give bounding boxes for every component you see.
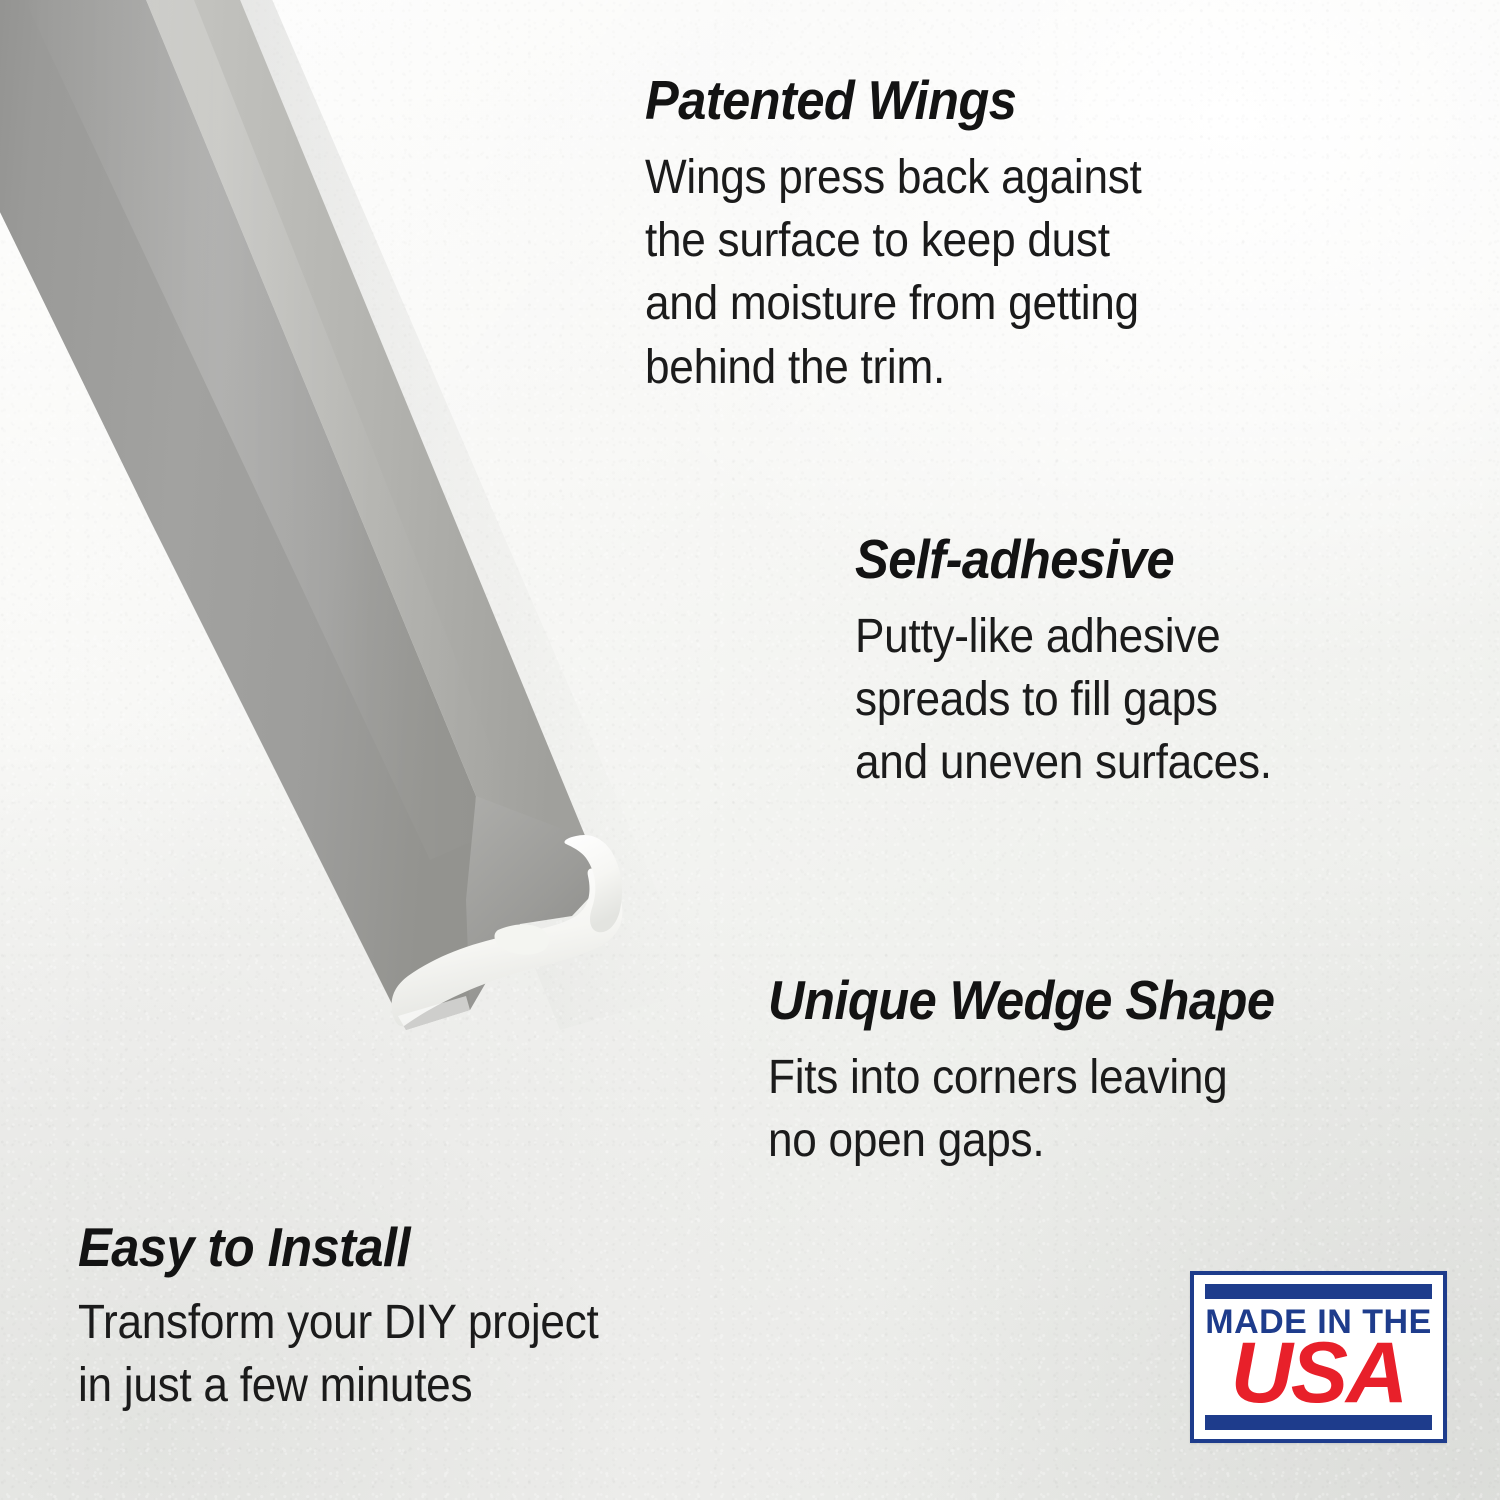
- feature-block-wedge: Unique Wedge Shape Fits into corners lea…: [768, 972, 1318, 1172]
- feature-body-install: Transform your DIY project in just a few…: [78, 1291, 598, 1418]
- badge-line-made-in-the: MADE IN THE: [1205, 1305, 1432, 1339]
- feature-block-adhesive: Self-adhesive Putty-like adhesive spread…: [855, 531, 1308, 795]
- feature-title-adhesive: Self-adhesive: [855, 531, 1272, 589]
- feature-block-install: Easy to Install Transform your DIY proje…: [78, 1219, 644, 1417]
- badge-bottom-bar: [1205, 1415, 1432, 1430]
- made-in-usa-badge: MADE IN THE USA: [1190, 1271, 1447, 1443]
- product-infographic: Patented Wings Wings press back against …: [0, 0, 1500, 1500]
- feature-body-wedge: Fits into corners leaving no open gaps.: [768, 1046, 1274, 1173]
- badge-line-usa: USA: [1205, 1337, 1432, 1411]
- feature-body-adhesive: Putty-like adhesive spreads to fill gaps…: [855, 605, 1272, 795]
- feature-title-wings: Patented Wings: [645, 72, 1142, 130]
- badge-top-bar: [1205, 1284, 1432, 1299]
- feature-title-install: Easy to Install: [78, 1219, 598, 1277]
- feature-body-wings: Wings press back against the surface to …: [645, 146, 1142, 399]
- feature-title-wedge: Unique Wedge Shape: [768, 972, 1274, 1030]
- feature-block-wings: Patented Wings Wings press back against …: [645, 72, 1185, 399]
